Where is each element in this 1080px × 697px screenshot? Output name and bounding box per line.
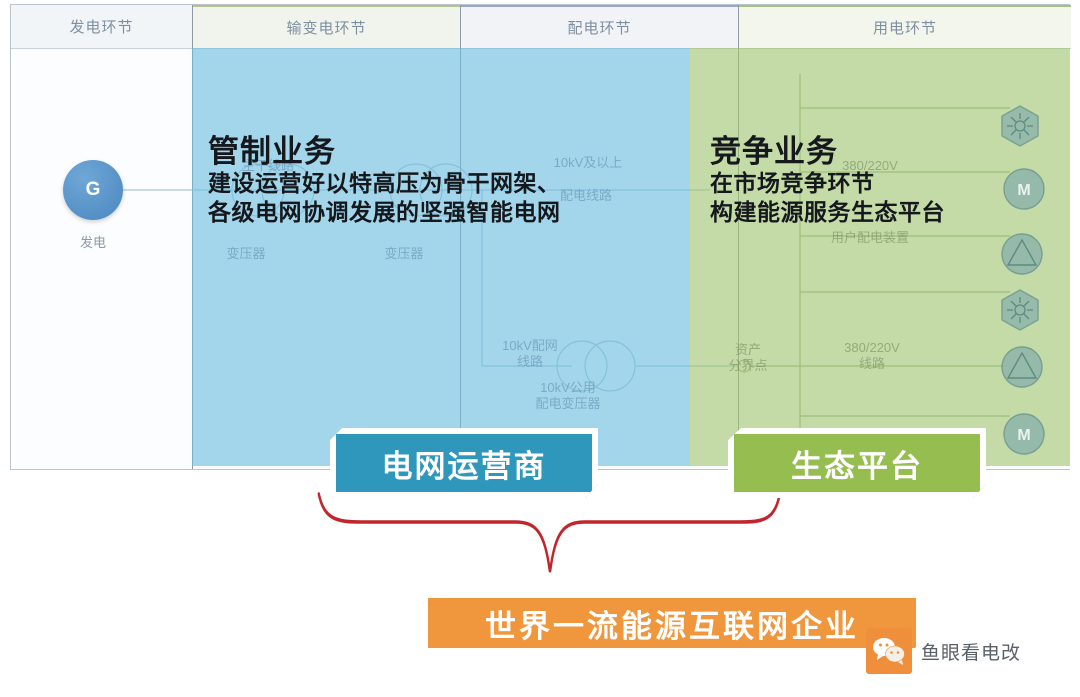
stage-body-generation [11, 49, 192, 469]
stage-header-transmission: 输变电环节 [193, 5, 460, 49]
competitive-business-line-2: 构建能源服务生态平台 [710, 198, 945, 227]
stage-column-consumption: 用电环节 [739, 5, 1071, 469]
red-brace-connector [300, 488, 780, 598]
diagram-canvas: 发电环节 输变电环节 配电环节 用电环节 [0, 0, 1080, 697]
callout-eco-platform[interactable]: 生态平台 [728, 428, 986, 498]
stage-column-distribution: 配电环节 [461, 5, 739, 469]
stage-header-consumption: 用电环节 [739, 5, 1071, 49]
competitive-business-title: 竞争业务 [710, 136, 945, 169]
stage-body-consumption [739, 49, 1071, 469]
stage-header-distribution: 配电环节 [461, 5, 738, 49]
regulated-business-line-2: 各级电网协调发展的坚强智能电网 [208, 198, 561, 227]
callout-goal-banner[interactable]: 世界一流能源互联网企业 [422, 592, 922, 654]
wechat-badge [866, 628, 912, 674]
stage-body-transmission [193, 49, 460, 469]
stage-column-transmission: 输变电环节 [193, 5, 461, 469]
regulated-business-title: 管制业务 [208, 136, 561, 169]
watermark: 鱼眼看电改 [866, 628, 1021, 674]
callout-grid-operator[interactable]: 电网运营商 [330, 428, 598, 498]
stage-body-distribution [461, 49, 738, 469]
competitive-business-line-1: 在市场竞争环节 [710, 169, 945, 198]
value-chain-grid: 发电环节 输变电环节 配电环节 用电环节 [10, 4, 1070, 470]
regulated-business-line-1: 建设运营好以特高压为骨干网架、 [208, 169, 561, 198]
stage-header-generation: 发电环节 [11, 5, 192, 49]
watermark-label: 鱼眼看电改 [921, 638, 1021, 665]
generator-label: 发电 [43, 232, 143, 251]
regulated-business-block: 管制业务 建设运营好以特高压为骨干网架、 各级电网协调发展的坚强智能电网 [208, 136, 561, 226]
wechat-icon [872, 636, 906, 666]
competitive-business-block: 竞争业务 在市场竞争环节 构建能源服务生态平台 [710, 136, 945, 226]
generator-node: G [63, 160, 123, 220]
